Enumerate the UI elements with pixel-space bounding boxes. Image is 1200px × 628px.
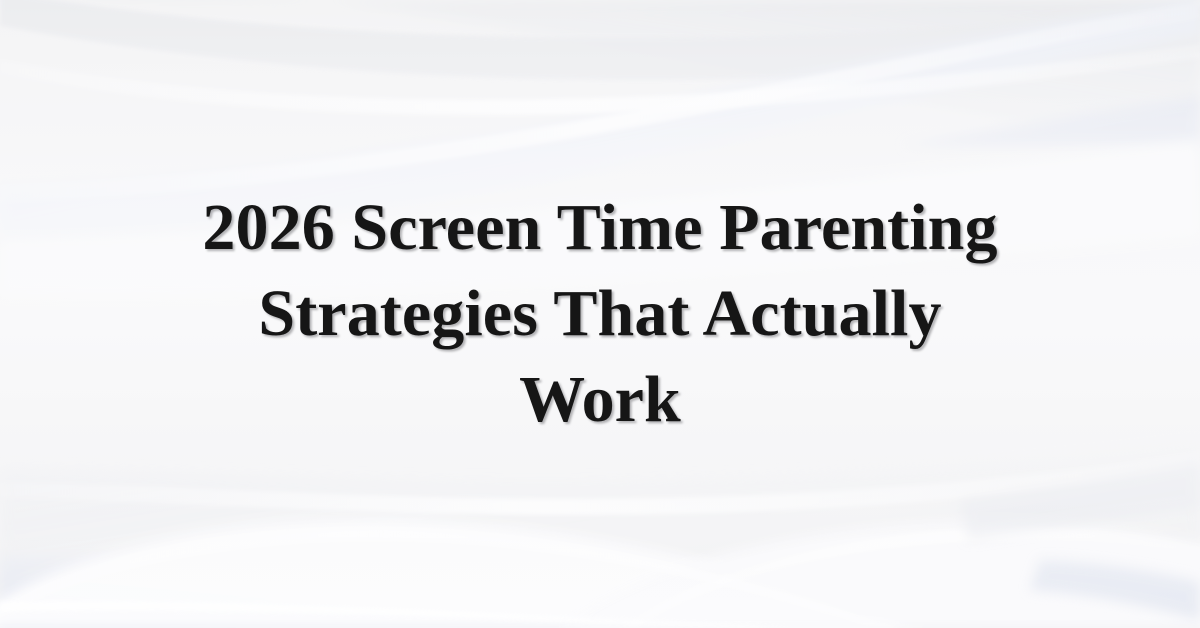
headline-container: 2026 Screen Time Parenting Strategies Th… <box>0 0 1200 628</box>
page-title: 2026 Screen Time Parenting Strategies Th… <box>202 185 997 443</box>
headline-line-3: Work <box>202 357 997 443</box>
headline-line-2: Strategies That Actually <box>202 271 997 357</box>
headline-line-1: 2026 Screen Time Parenting <box>202 185 997 271</box>
og-banner: 2026 Screen Time Parenting Strategies Th… <box>0 0 1200 628</box>
